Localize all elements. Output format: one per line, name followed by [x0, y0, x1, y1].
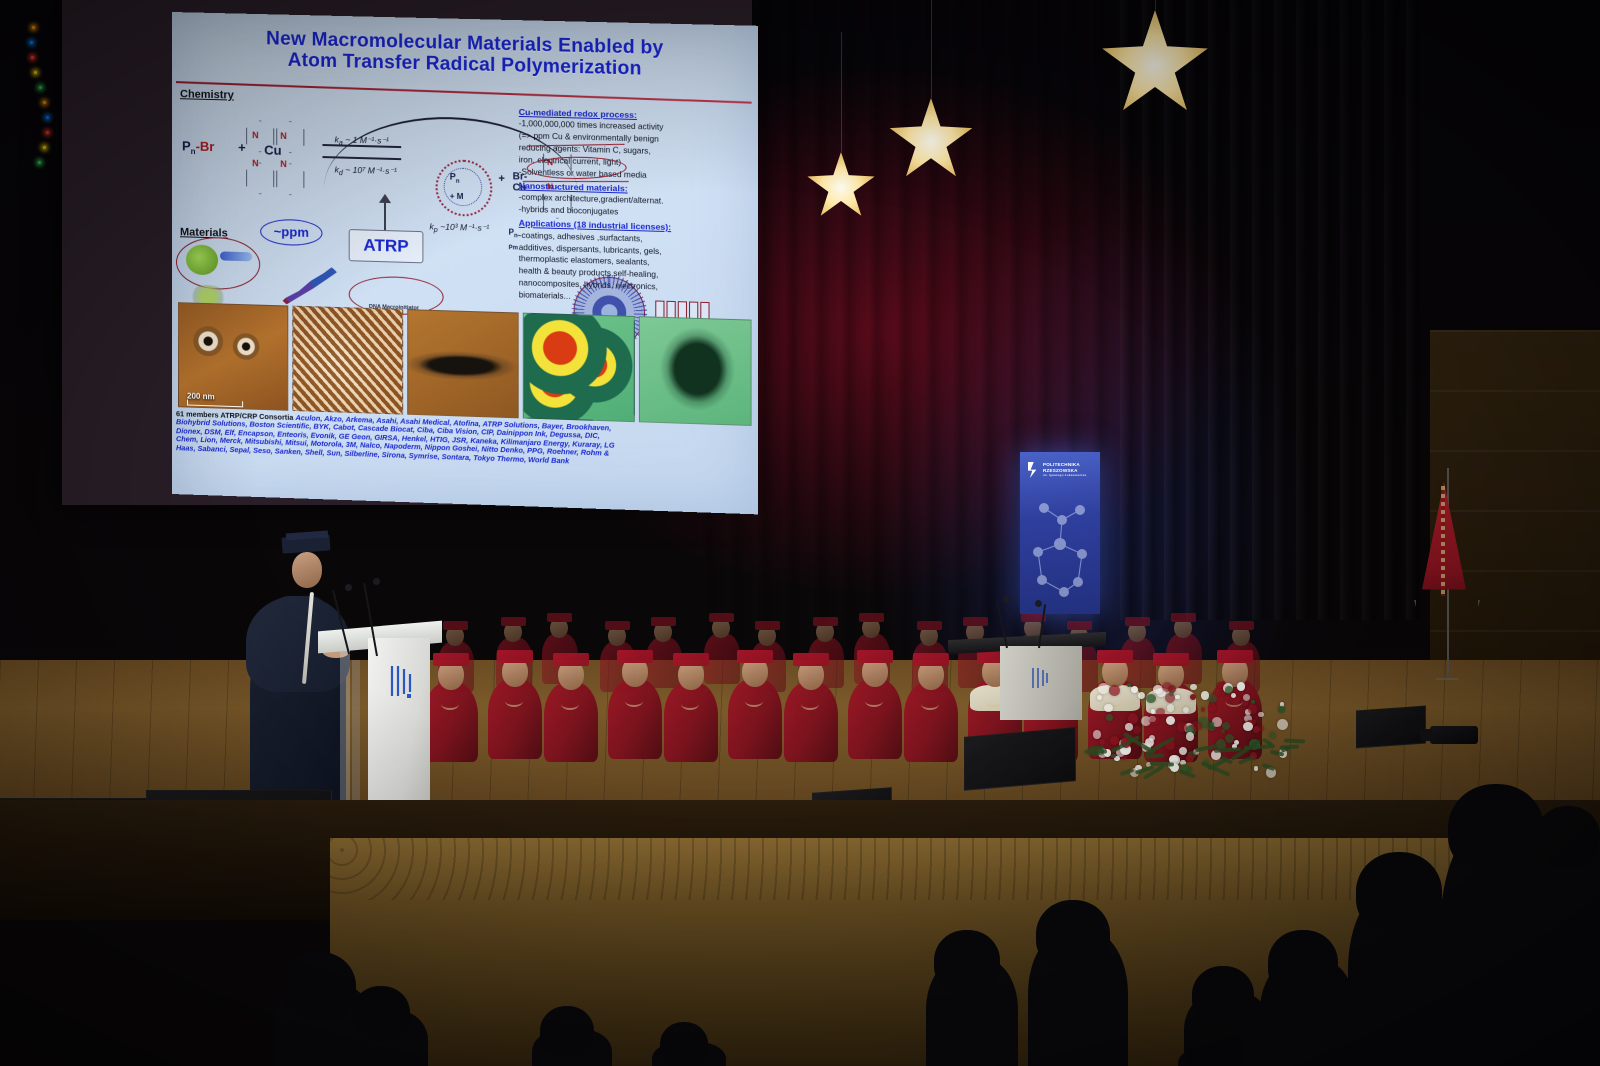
star-wire	[841, 32, 842, 152]
kp-value: ~10³ M⁻¹·s⁻¹	[440, 222, 489, 233]
academic-cap	[497, 650, 533, 663]
flower	[1184, 680, 1188, 684]
foliage	[1145, 753, 1165, 758]
academic-robe	[904, 682, 958, 762]
microphone-head	[1035, 600, 1042, 607]
flower	[1127, 683, 1131, 687]
kp-subscript: p	[434, 226, 438, 234]
flower	[1243, 722, 1253, 732]
star-wire	[931, 0, 932, 98]
flower	[1106, 714, 1113, 721]
flower	[1149, 716, 1158, 725]
stage-monitor-right	[964, 727, 1076, 791]
flower	[1190, 684, 1197, 691]
flower	[1125, 723, 1132, 730]
flower	[1186, 732, 1195, 741]
micrograph-afm-fibrils	[292, 306, 403, 415]
flower	[1099, 739, 1105, 745]
flower	[1190, 694, 1197, 701]
flower	[1110, 736, 1119, 745]
plus-symbol-2: +	[498, 173, 505, 185]
flower	[1138, 692, 1146, 700]
academic-cap	[737, 650, 773, 663]
academic-cap	[755, 621, 780, 630]
fairy-light	[46, 131, 49, 134]
banner-logo: POLITECHNIKA RZESZOWSKA im. Ignacego Łuk…	[1028, 460, 1092, 480]
university-mark-icon	[1028, 462, 1040, 478]
seated-academic-front	[664, 642, 718, 762]
flower	[1201, 691, 1209, 699]
flower	[1167, 704, 1175, 712]
academic-cap	[547, 613, 572, 622]
flower	[1208, 703, 1216, 711]
flower	[1258, 712, 1264, 718]
audience-member-head	[282, 952, 356, 1022]
podium-logo-icon	[388, 664, 416, 700]
academic-chain	[681, 698, 699, 710]
academic-cap	[917, 621, 942, 630]
academic-chain	[561, 698, 579, 710]
flower	[1248, 704, 1257, 713]
flower	[1254, 766, 1259, 771]
academic-cap	[1067, 621, 1092, 630]
academic-chain	[801, 698, 819, 710]
flower	[1191, 721, 1202, 732]
atrp-box: ATRP	[349, 229, 424, 263]
seated-academic-front	[784, 642, 838, 762]
video-camera	[1430, 726, 1478, 744]
radical-subscript: n	[456, 179, 460, 185]
flag-trim	[1441, 486, 1445, 596]
star-body	[1100, 10, 1210, 120]
academic-robe	[848, 679, 902, 759]
flower	[1253, 726, 1260, 733]
academic-cap	[443, 621, 468, 630]
star-body	[806, 152, 876, 222]
seated-academic-front	[424, 642, 478, 762]
academic-cap	[673, 653, 709, 666]
flower	[1128, 713, 1138, 723]
flower	[1260, 726, 1265, 731]
audience-member-head	[1186, 1022, 1244, 1066]
academic-cap	[709, 613, 734, 622]
flower	[1098, 683, 1109, 694]
seated-academic-front	[904, 642, 958, 762]
polymer-chain-blue	[220, 251, 252, 261]
academic-cap	[553, 653, 589, 666]
academic-cap	[913, 653, 949, 666]
audience-member-head	[352, 986, 410, 1041]
head-table-logo-icon	[1030, 666, 1050, 690]
flower	[1104, 704, 1113, 713]
seated-academic-front	[544, 642, 598, 762]
flower	[1269, 732, 1276, 739]
floral-arrangement	[1090, 668, 1280, 776]
microphone-head	[1003, 596, 1010, 603]
audience-member-head	[660, 1022, 708, 1066]
flower	[1093, 730, 1101, 738]
flower	[1166, 716, 1175, 725]
foliage	[1262, 762, 1276, 770]
annotation-strikethrough-2	[523, 181, 629, 183]
star-body	[888, 98, 974, 184]
academic-cap	[857, 650, 893, 663]
star-wire	[1155, 0, 1156, 10]
academic-chain	[625, 695, 643, 707]
flower	[1151, 709, 1156, 714]
audience-member-head	[1268, 930, 1338, 997]
academic-robe	[544, 682, 598, 762]
slide-bullet-column: Cu-mediated redox process:-1,000,000,000…	[519, 105, 750, 310]
hanging-star-small	[806, 152, 876, 222]
flower	[1186, 755, 1194, 763]
banner-line-3: im. Ignacego Łukasiewicza	[1043, 474, 1086, 478]
flower	[1097, 695, 1102, 700]
seated-academic-front	[488, 639, 542, 759]
micrograph-afm-particles: 200 nm	[178, 302, 288, 411]
audience-member-head	[1536, 806, 1600, 867]
academic-robe	[664, 682, 718, 762]
academic-chain	[745, 695, 763, 707]
academic-robe	[488, 679, 542, 759]
academic-cap	[1171, 613, 1196, 622]
academic-cap	[963, 617, 988, 626]
flower	[1179, 747, 1187, 755]
hanging-star-large	[1100, 10, 1210, 120]
audience-member-head	[1356, 852, 1442, 934]
audience-member-head	[1192, 966, 1254, 1025]
fairy-light	[32, 26, 35, 29]
academic-cap	[1153, 653, 1189, 666]
fairy-light	[46, 116, 49, 119]
audience-member-head	[1036, 900, 1110, 970]
academic-cap	[1125, 617, 1150, 626]
conference-photo-scene: New Macromolecular Materials Enabled by …	[0, 0, 1600, 1066]
scale-bar-ticks	[187, 399, 243, 407]
stage-monitor-far-right	[1356, 706, 1426, 749]
presentation-slide: New Macromolecular Materials Enabled by …	[172, 12, 758, 514]
flower	[1156, 708, 1165, 717]
fairy-light	[39, 86, 42, 89]
seated-academic-front	[848, 639, 902, 759]
flower	[1183, 707, 1189, 713]
academic-chain	[441, 698, 459, 710]
flower	[1201, 707, 1205, 711]
flower	[1225, 686, 1233, 694]
academic-cap	[859, 613, 884, 622]
monomer-label: + M	[450, 192, 464, 201]
microphone-head	[373, 578, 380, 585]
flower	[1243, 694, 1250, 701]
academic-robe	[608, 679, 662, 759]
flower	[1237, 682, 1246, 691]
flower	[1221, 692, 1226, 697]
flower	[1175, 695, 1180, 700]
audience-member-head	[934, 930, 1000, 993]
academic-cap	[1217, 650, 1253, 663]
academic-robe	[784, 682, 838, 762]
micrograph-fluorescence-dots	[523, 313, 635, 423]
academic-cap	[617, 650, 653, 663]
microphone-head	[345, 584, 352, 591]
academic-cap	[1097, 650, 1133, 663]
flower	[1146, 694, 1156, 704]
flower	[1109, 685, 1120, 696]
flower	[1131, 686, 1138, 693]
fairy-light	[43, 146, 46, 149]
foliage	[1280, 744, 1300, 749]
atrp-arrow-stem	[384, 200, 386, 230]
audience-member-head	[540, 1006, 594, 1057]
audience-member-head	[1448, 784, 1544, 875]
radical-species: Pn	[450, 172, 460, 185]
seated-academic-front	[608, 639, 662, 759]
foliage	[1150, 761, 1174, 766]
flower	[1208, 694, 1217, 703]
flower	[1217, 682, 1223, 688]
hanging-star-medium	[888, 98, 974, 184]
academic-cap	[813, 617, 838, 626]
micrograph-fluorescence-filament	[639, 316, 752, 426]
micrograph-strip: 200 nm	[178, 302, 752, 426]
flower	[1133, 726, 1141, 734]
flower	[1222, 722, 1230, 730]
fairy-light	[31, 56, 34, 59]
academic-chain	[505, 695, 523, 707]
seated-academic-front	[728, 639, 782, 759]
academic-cap	[651, 617, 676, 626]
protein-blob	[186, 244, 218, 275]
academic-cap	[605, 621, 630, 630]
academic-robe	[728, 679, 782, 759]
banner-institution-text: POLITECHNIKA RZESZOWSKA im. Ignacego Łuk…	[1043, 462, 1086, 477]
academic-chain	[865, 695, 883, 707]
academic-cap	[501, 617, 526, 626]
academic-cap	[1229, 621, 1254, 630]
speaker-head	[292, 552, 322, 588]
flower	[1225, 734, 1234, 743]
projection-screen: New Macromolecular Materials Enabled by …	[62, 0, 752, 505]
rate-constant-propagation: kp ~10³ M⁻¹·s⁻¹	[429, 221, 489, 235]
audience-member-body	[1528, 833, 1600, 1066]
academic-robe	[424, 682, 478, 762]
micrograph-afm-single-chain	[407, 309, 518, 418]
flower	[1243, 701, 1248, 706]
flower	[1149, 735, 1155, 741]
academic-cap	[433, 653, 469, 666]
academic-chain	[921, 698, 939, 710]
academic-cap	[793, 653, 829, 666]
